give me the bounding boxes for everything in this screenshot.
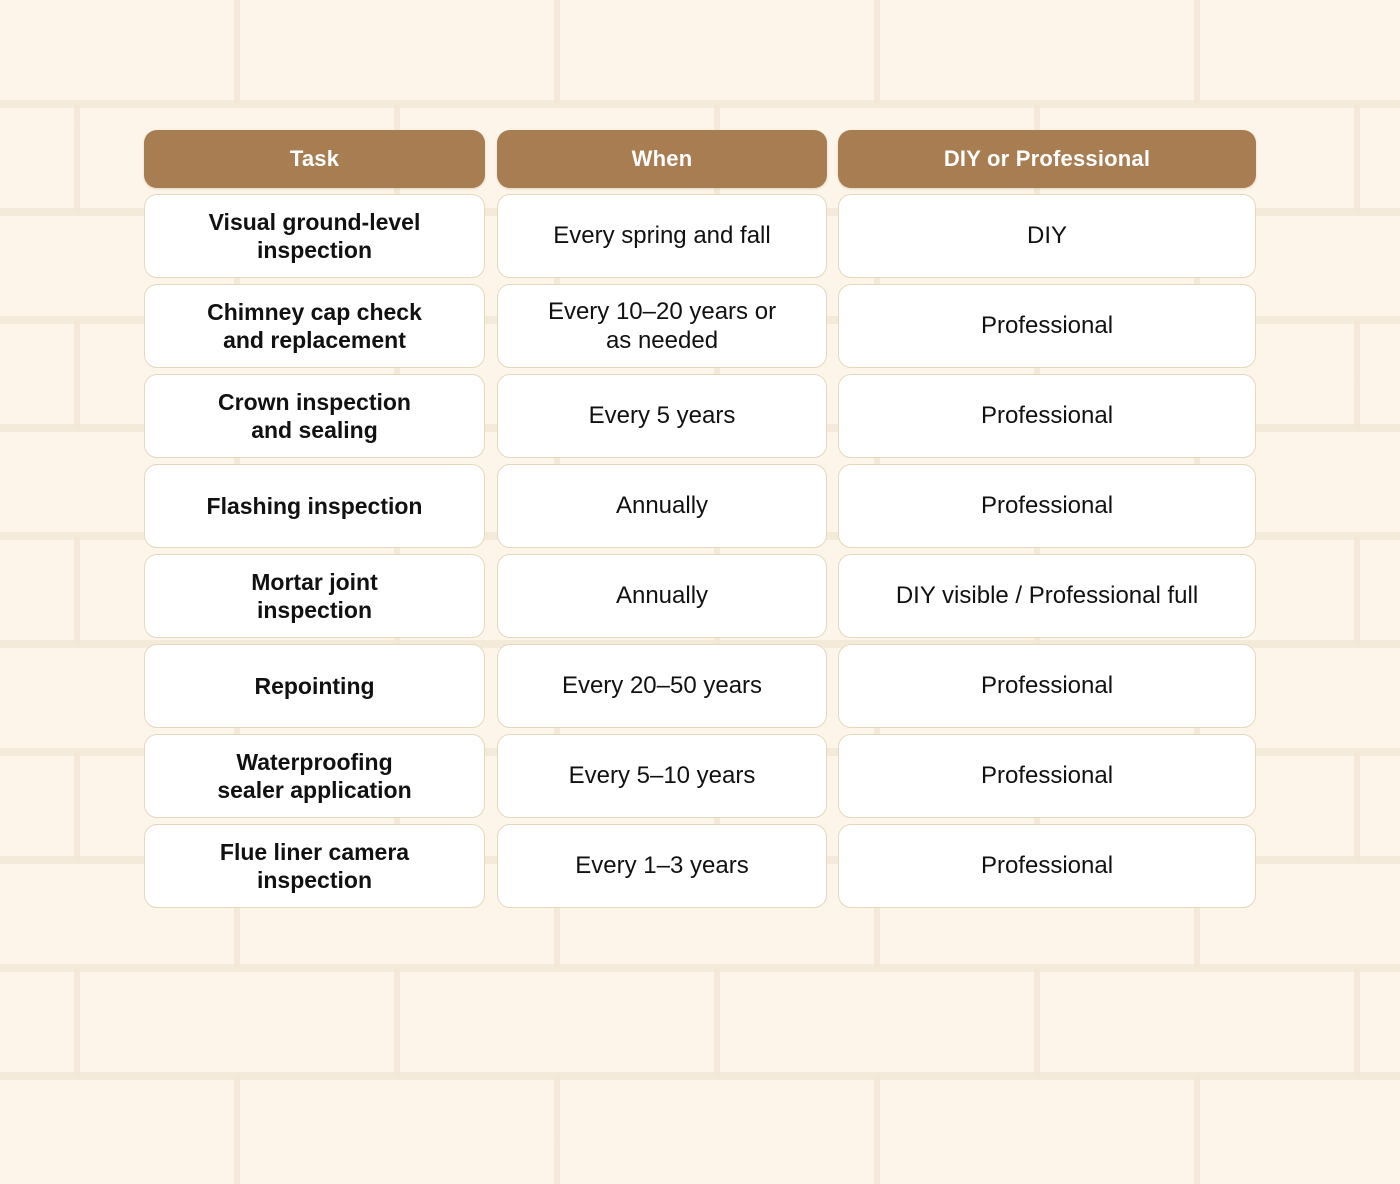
cell-when: Every 5–10 years bbox=[497, 734, 827, 818]
cell-task-text: Mortar joint inspection bbox=[251, 568, 378, 624]
column-header-diy-or-professional-label: DIY or Professional bbox=[944, 146, 1150, 172]
column-header-when: When bbox=[497, 130, 827, 188]
cell-who-text: DIY visible / Professional full bbox=[896, 581, 1198, 610]
cell-when-text: Every 5–10 years bbox=[569, 761, 756, 790]
cell-who: Professional bbox=[838, 374, 1256, 458]
column-header-task-label: Task bbox=[290, 146, 339, 172]
column-header-task: Task bbox=[144, 130, 485, 188]
cell-who: Professional bbox=[838, 284, 1256, 368]
cell-who-text: Professional bbox=[981, 671, 1113, 700]
cell-who: Professional bbox=[838, 464, 1256, 548]
cell-who: DIY visible / Professional full bbox=[838, 554, 1256, 638]
cell-when: Every 10–20 years or as needed bbox=[497, 284, 827, 368]
cell-when-text: Every 10–20 years or as needed bbox=[548, 297, 776, 356]
cell-when-text: Annually bbox=[616, 581, 708, 610]
cell-when-text: Annually bbox=[616, 491, 708, 520]
cell-task: Waterproofing sealer application bbox=[144, 734, 485, 818]
table-row: Flashing inspection Annually Professiona… bbox=[144, 464, 1256, 548]
cell-who: Professional bbox=[838, 824, 1256, 908]
cell-who-text: Professional bbox=[981, 491, 1113, 520]
cell-when: Every 5 years bbox=[497, 374, 827, 458]
cell-task: Repointing bbox=[144, 644, 485, 728]
cell-task: Mortar joint inspection bbox=[144, 554, 485, 638]
cell-who: Professional bbox=[838, 644, 1256, 728]
cell-task: Crown inspection and sealing bbox=[144, 374, 485, 458]
cell-who-text: DIY bbox=[1027, 221, 1067, 250]
cell-task-text: Flashing inspection bbox=[207, 492, 423, 520]
cell-who-text: Professional bbox=[981, 851, 1113, 880]
maintenance-schedule-table: Task When DIY or Professional Visual gro… bbox=[144, 130, 1256, 908]
table-row: Crown inspection and sealing Every 5 yea… bbox=[144, 374, 1256, 458]
cell-when-text: Every 1–3 years bbox=[575, 851, 748, 880]
cell-when-text: Every 5 years bbox=[589, 401, 736, 430]
cell-who-text: Professional bbox=[981, 761, 1113, 790]
table-row: Mortar joint inspection Annually DIY vis… bbox=[144, 554, 1256, 638]
table-row: Flue liner camera inspection Every 1–3 y… bbox=[144, 824, 1256, 908]
cell-task-text: Repointing bbox=[254, 672, 374, 700]
cell-when-text: Every spring and fall bbox=[553, 221, 770, 250]
table-row: Visual ground-level inspection Every spr… bbox=[144, 194, 1256, 278]
brick-row bbox=[0, 1076, 1400, 1184]
cell-who-text: Professional bbox=[981, 401, 1113, 430]
cell-when: Every 1–3 years bbox=[497, 824, 827, 908]
brick-row bbox=[0, 968, 1400, 1076]
brick-row bbox=[0, 0, 1400, 104]
cell-task-text: Crown inspection and sealing bbox=[218, 388, 411, 444]
cell-who-text: Professional bbox=[981, 311, 1113, 340]
cell-task: Chimney cap check and replacement bbox=[144, 284, 485, 368]
cell-task: Flue liner camera inspection bbox=[144, 824, 485, 908]
cell-task-text: Chimney cap check and replacement bbox=[207, 298, 422, 354]
table-row: Chimney cap check and replacement Every … bbox=[144, 284, 1256, 368]
cell-when: Every spring and fall bbox=[497, 194, 827, 278]
column-header-when-label: When bbox=[632, 146, 693, 172]
cell-when: Every 20–50 years bbox=[497, 644, 827, 728]
cell-task: Flashing inspection bbox=[144, 464, 485, 548]
cell-who: DIY bbox=[838, 194, 1256, 278]
table-header-row: Task When DIY or Professional bbox=[144, 130, 1256, 188]
cell-task-text: Flue liner camera inspection bbox=[220, 838, 409, 894]
cell-when: Annually bbox=[497, 464, 827, 548]
cell-task: Visual ground-level inspection bbox=[144, 194, 485, 278]
cell-task-text: Waterproofing sealer application bbox=[217, 748, 411, 804]
cell-when-text: Every 20–50 years bbox=[562, 671, 762, 700]
cell-when: Annually bbox=[497, 554, 827, 638]
column-header-diy-or-professional: DIY or Professional bbox=[838, 130, 1256, 188]
table-row: Waterproofing sealer application Every 5… bbox=[144, 734, 1256, 818]
cell-task-text: Visual ground-level inspection bbox=[209, 208, 421, 264]
cell-who: Professional bbox=[838, 734, 1256, 818]
table-row: Repointing Every 20–50 years Professiona… bbox=[144, 644, 1256, 728]
